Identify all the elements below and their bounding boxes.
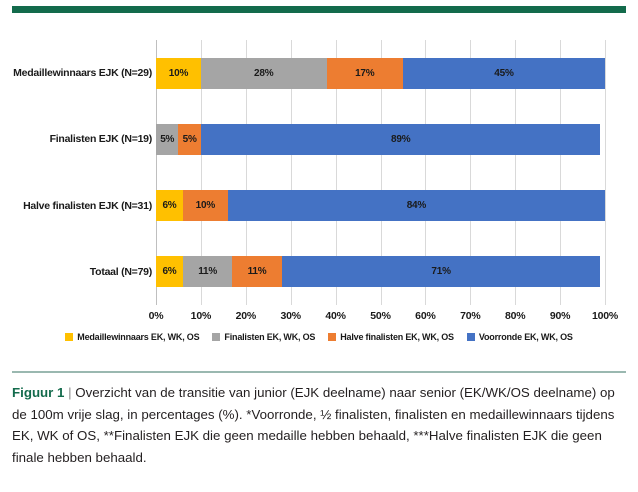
bar-segment[interactable]: 28% [201, 58, 327, 89]
bar-rows: 10%28%17%45%5%5%89%6%10%84%6%11%11%71% [156, 40, 605, 305]
bar-segment[interactable]: 5% [178, 124, 200, 155]
legend-item[interactable]: Medaillewinnaars EK, WK, OS [65, 332, 199, 342]
bar-segment[interactable]: 10% [156, 58, 201, 89]
x-tick-label: 100% [592, 310, 618, 322]
legend-item[interactable]: Finalisten EK, WK, OS [212, 332, 315, 342]
plot-area: 10%28%17%45%5%5%89%6%10%84%6%11%11%71% [156, 40, 605, 305]
legend-label: Finalisten EK, WK, OS [224, 332, 315, 342]
bar-segment[interactable]: 89% [201, 124, 601, 155]
figure-number: Figuur 1 [12, 385, 64, 400]
x-tick-label: 30% [280, 310, 300, 322]
x-tick-label: 10% [191, 310, 211, 322]
legend-swatch-icon [212, 333, 220, 341]
legend-item[interactable]: Voorronde EK, WK, OS [467, 332, 573, 342]
stacked-bar[interactable]: 6%10%84% [156, 190, 605, 221]
caption-separator: | [64, 385, 75, 400]
x-tick-label: 0% [149, 310, 164, 322]
bar-segment[interactable]: 5% [156, 124, 178, 155]
top-green-rule [12, 6, 626, 13]
bar-row: 5%5%89% [156, 106, 605, 172]
category-label: Halve finalisten EJK (N=31) [0, 173, 152, 239]
legend-label: Halve finalisten EK, WK, OS [340, 332, 454, 342]
category-label: Totaal (N=79) [0, 239, 152, 305]
bar-segment[interactable]: 17% [327, 58, 403, 89]
category-label: Finalisten EJK (N=19) [0, 106, 152, 172]
x-tick-label: 90% [550, 310, 570, 322]
bar-segment[interactable]: 11% [183, 256, 232, 287]
category-label: Medaillewinnaars EJK (N=29) [0, 40, 152, 106]
stacked-bar[interactable]: 10%28%17%45% [156, 58, 605, 89]
bar-segment[interactable]: 45% [403, 58, 605, 89]
stacked-bar[interactable]: 6%11%11%71% [156, 256, 605, 287]
bar-row: 10%28%17%45% [156, 40, 605, 106]
gridline [605, 40, 606, 305]
x-axis-ticks: 0%10%20%30%40%50%60%70%80%90%100% [156, 310, 605, 328]
chart-legend: Medaillewinnaars EK, WK, OSFinalisten EK… [0, 332, 638, 342]
bar-segment[interactable]: 71% [282, 256, 601, 287]
x-tick-label: 20% [236, 310, 256, 322]
legend-swatch-icon [467, 333, 475, 341]
figure-caption: Figuur 1 | Overzicht van de transitie va… [12, 382, 626, 468]
bar-segment[interactable]: 10% [183, 190, 228, 221]
legend-item[interactable]: Halve finalisten EK, WK, OS [328, 332, 454, 342]
legend-swatch-icon [65, 333, 73, 341]
category-axis-labels: Medaillewinnaars EJK (N=29) Finalisten E… [0, 40, 152, 305]
x-tick-label: 40% [325, 310, 345, 322]
legend-label: Voorronde EK, WK, OS [479, 332, 573, 342]
stacked-bar-chart: Medaillewinnaars EJK (N=29) Finalisten E… [0, 22, 638, 322]
figure-block: Medaillewinnaars EJK (N=29) Finalisten E… [0, 22, 638, 362]
x-tick-label: 70% [460, 310, 480, 322]
legend-label: Medaillewinnaars EK, WK, OS [77, 332, 199, 342]
bar-row: 6%11%11%71% [156, 239, 605, 305]
stacked-bar[interactable]: 5%5%89% [156, 124, 605, 155]
bar-row: 6%10%84% [156, 173, 605, 239]
bar-segment[interactable]: 11% [232, 256, 281, 287]
caption-text: Overzicht van de transitie van junior (E… [12, 385, 615, 465]
x-tick-label: 60% [415, 310, 435, 322]
bar-segment[interactable]: 6% [156, 190, 183, 221]
x-tick-label: 80% [505, 310, 525, 322]
bar-segment[interactable]: 6% [156, 256, 183, 287]
caption-divider [12, 371, 626, 373]
legend-swatch-icon [328, 333, 336, 341]
x-tick-label: 50% [370, 310, 390, 322]
bar-segment[interactable]: 84% [228, 190, 605, 221]
